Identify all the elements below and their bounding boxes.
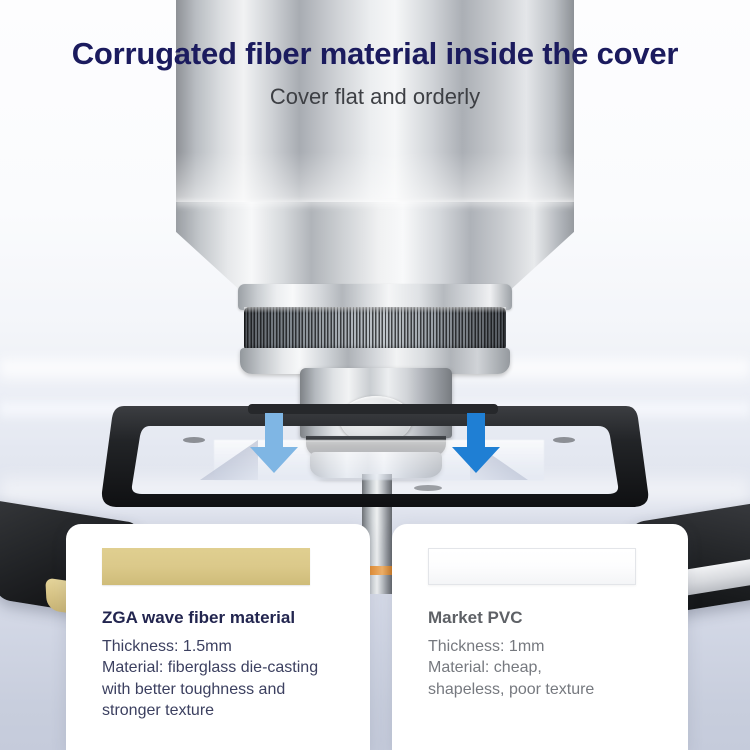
card-line: with better toughness and [102, 679, 356, 700]
card-lines-left: Thickness: 1.5mm Material: fiberglass di… [102, 636, 356, 722]
comparison-card-zga: ZGA wave fiber material Thickness: 1.5mm… [66, 524, 370, 750]
pressure-arrow-right-icon [450, 413, 502, 480]
press-chamfer-taper [176, 202, 574, 290]
card-line: shapeless, poor texture [428, 679, 674, 700]
product-comparison-banner: 80KG [0, 0, 750, 750]
card-body-right: Market PVC Thickness: 1mm Material: chea… [428, 608, 674, 700]
press-taper-highlight [176, 200, 574, 210]
comparison-card-pvc: Market PVC Thickness: 1mm Material: chea… [392, 524, 688, 750]
card-line: stronger texture [102, 700, 356, 721]
clear-pvc-swatch [428, 548, 636, 585]
gold-fiber-swatch [102, 548, 310, 585]
card-lines-right: Thickness: 1mm Material: cheap, shapeles… [428, 636, 674, 700]
page-subtitle: Cover flat and orderly [0, 84, 750, 110]
card-line: Thickness: 1.5mm [102, 636, 356, 657]
card-body-left: ZGA wave fiber material Thickness: 1.5mm… [102, 608, 356, 722]
pressure-arrow-left-icon [248, 413, 300, 480]
card-title-left: ZGA wave fiber material [102, 608, 356, 628]
weight-badge-label: 80KG [355, 411, 398, 429]
card-line: Thickness: 1mm [428, 636, 674, 657]
page-title: Corrugated fiber material inside the cov… [0, 36, 750, 72]
press-knurled-ring [244, 307, 506, 351]
card-line: Material: fiberglass die-casting [102, 657, 356, 678]
card-title-right: Market PVC [428, 608, 674, 628]
card-line: Material: cheap, [428, 657, 674, 678]
